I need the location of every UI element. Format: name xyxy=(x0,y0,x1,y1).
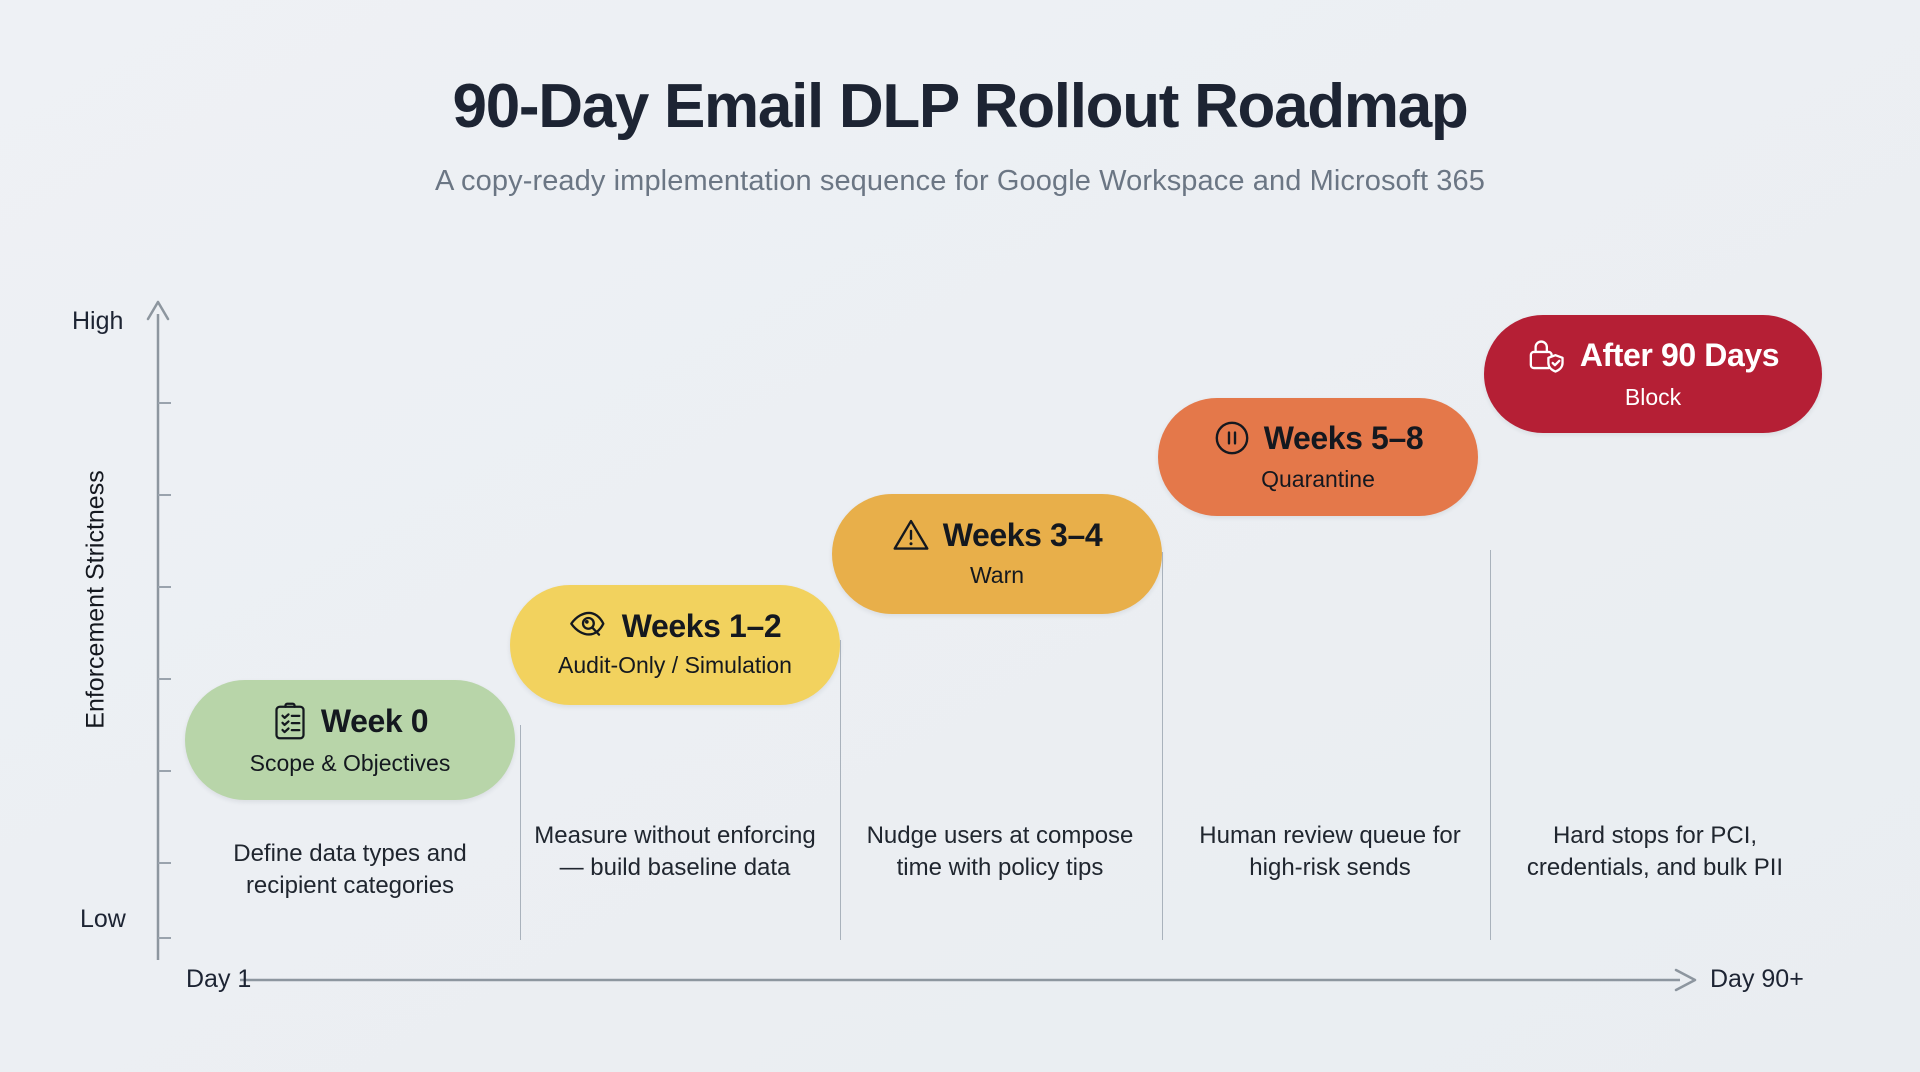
step-week-0-subtitle: Scope & Objectives xyxy=(250,751,451,776)
step-weeks-1-2-caption: Measure without enforcing — build baseli… xyxy=(525,820,825,884)
step-weeks-1-2-pill[interactable]: Weeks 1–2 Audit-Only / Simulation xyxy=(510,585,840,705)
infographic-canvas: 90-Day Email DLP Rollout Roadmap A copy-… xyxy=(0,0,1920,1072)
pause-circle-icon xyxy=(1213,419,1251,457)
step-divider-4 xyxy=(1490,550,1491,940)
step-after-90-days-title: After 90 Days xyxy=(1580,339,1779,371)
step-divider-2 xyxy=(840,640,841,940)
step-weeks-5-8-subtitle: Quarantine xyxy=(1261,467,1375,492)
step-weeks-5-8-pill[interactable]: Weeks 5–8 Quarantine xyxy=(1158,398,1478,516)
step-weeks-3-4-subtitle: Warn xyxy=(970,563,1024,588)
step-weeks-3-4-pill[interactable]: Weeks 3–4 Warn xyxy=(832,494,1162,614)
step-week-0-heading: Week 0 xyxy=(272,701,428,741)
step-weeks-5-8-title: Weeks 5–8 xyxy=(1264,422,1424,454)
step-divider-1 xyxy=(520,725,521,940)
step-weeks-5-8-caption: Human review queue for high-risk sends xyxy=(1180,820,1480,884)
warning-triangle-icon xyxy=(892,517,930,553)
roadmap-steps: Week 0 Scope & Objectives Define data ty… xyxy=(0,0,1920,1072)
step-after-90-days-caption: Hard stops for PCI, credentials, and bul… xyxy=(1505,820,1805,884)
step-after-90-days-heading: After 90 Days xyxy=(1527,335,1779,375)
step-weeks-1-2-heading: Weeks 1–2 xyxy=(569,609,782,643)
step-weeks-3-4-caption: Nudge users at compose time with policy … xyxy=(850,820,1150,884)
step-weeks-3-4-title: Weeks 3–4 xyxy=(943,519,1103,551)
step-week-0-title: Week 0 xyxy=(321,705,428,737)
eye-search-icon xyxy=(569,609,609,643)
clipboard-checklist-icon xyxy=(272,701,308,741)
lock-shield-icon xyxy=(1527,335,1567,375)
step-week-0-caption: Define data types and recipient categori… xyxy=(200,838,500,902)
step-weeks-1-2-subtitle: Audit-Only / Simulation xyxy=(558,653,792,678)
step-divider-3 xyxy=(1162,552,1163,940)
step-after-90-days-pill[interactable]: After 90 Days Block xyxy=(1484,315,1822,433)
step-weeks-3-4-heading: Weeks 3–4 xyxy=(892,517,1103,553)
step-weeks-1-2-title: Weeks 1–2 xyxy=(622,610,782,642)
step-after-90-days-subtitle: Block xyxy=(1625,385,1681,410)
step-weeks-5-8-heading: Weeks 5–8 xyxy=(1213,419,1424,457)
step-week-0-pill[interactable]: Week 0 Scope & Objectives xyxy=(185,680,515,800)
